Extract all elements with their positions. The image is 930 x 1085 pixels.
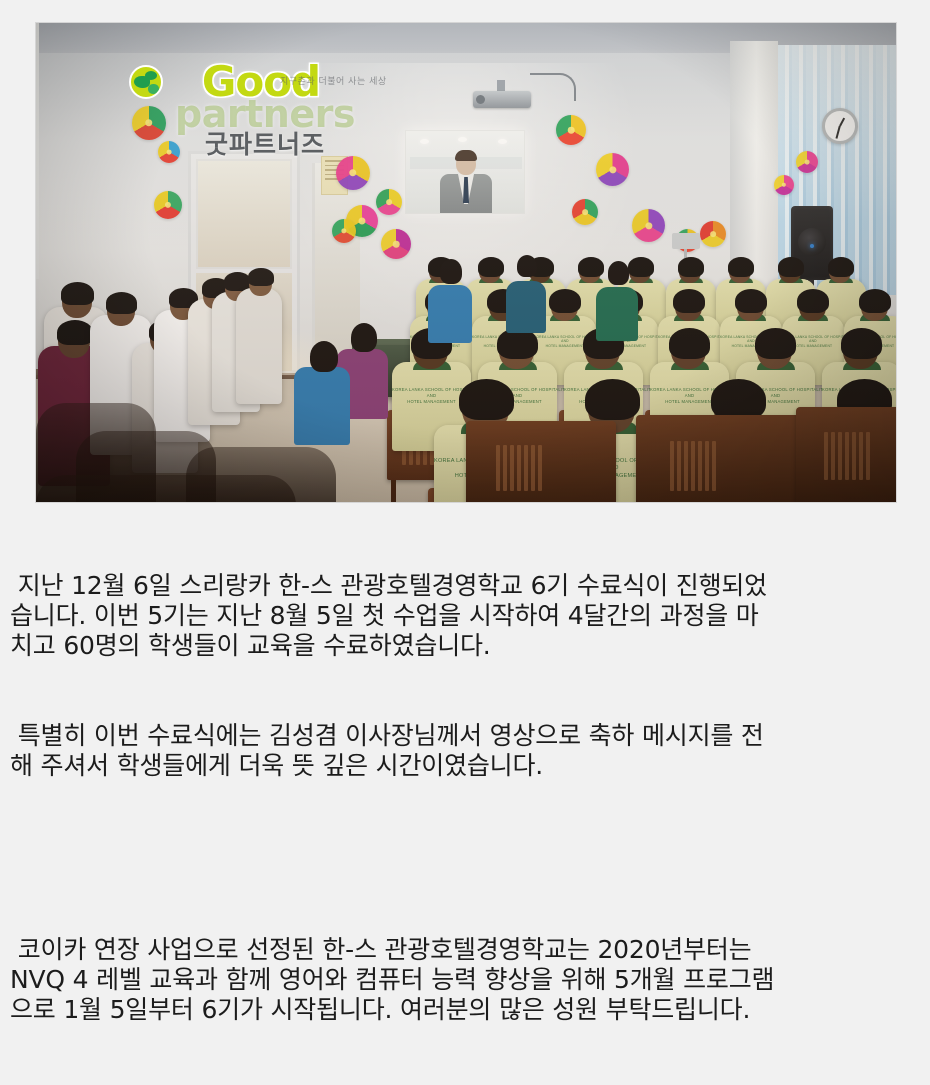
paper-flower bbox=[796, 151, 818, 173]
video-ceiling-light bbox=[458, 137, 467, 142]
paper-flower bbox=[336, 156, 370, 190]
video-speaker-hair bbox=[455, 150, 477, 161]
paper-flower bbox=[700, 221, 726, 247]
paper-flower bbox=[154, 191, 182, 219]
wooden-chair bbox=[466, 421, 616, 502]
audience-member-body bbox=[596, 287, 638, 341]
student-hair bbox=[711, 379, 766, 420]
video-ceiling-light bbox=[420, 139, 429, 144]
caption-paragraph-3: 코이카 연장 사업으로 선정된 한-스 관광호텔경영학교는 2020년부터는 N… bbox=[10, 935, 916, 1025]
student-hair bbox=[859, 289, 891, 313]
student-hair bbox=[678, 257, 704, 276]
paragraph-spacer bbox=[10, 841, 916, 875]
audience-member-hair bbox=[106, 292, 137, 314]
audience-member-head bbox=[351, 323, 377, 352]
student-hair bbox=[797, 289, 829, 313]
student-hair bbox=[459, 379, 514, 420]
paper-flower bbox=[774, 175, 794, 195]
audience-member-hair bbox=[57, 320, 93, 345]
student-hair bbox=[585, 379, 640, 420]
student-hair bbox=[673, 289, 705, 313]
article-caption: 지난 12월 6일 스리랑카 한-스 관광호텔경영학교 6기 수료식이 진행되었… bbox=[0, 511, 930, 1085]
student-hair bbox=[778, 257, 804, 276]
audience-member-head bbox=[310, 341, 338, 372]
student-hair bbox=[549, 289, 581, 313]
window-frame bbox=[36, 23, 39, 279]
audience-member-body bbox=[506, 281, 546, 333]
audience-member-body bbox=[236, 288, 282, 404]
equipment-stand bbox=[672, 233, 700, 249]
paper-flower bbox=[132, 106, 166, 140]
clock-minute-hand bbox=[836, 126, 841, 139]
photo-scene: KOREA LANKA SCHOOL OF HOSPITALITYANDHOTE… bbox=[36, 23, 896, 502]
projector-cable bbox=[530, 73, 576, 101]
door-glass-panel bbox=[196, 159, 292, 269]
wooden-chair bbox=[636, 415, 806, 502]
paper-flower bbox=[556, 115, 586, 145]
chair-leg bbox=[391, 480, 396, 502]
student-hair bbox=[828, 257, 854, 276]
paper-flower bbox=[158, 141, 180, 163]
speaker-cone-icon bbox=[798, 228, 826, 256]
caption-paragraph-2: 특별히 이번 수료식에는 김성겸 이사장님께서 영상으로 축하 메시지를 전 해… bbox=[10, 721, 916, 781]
audience-member-hair bbox=[248, 268, 274, 286]
paper-flower bbox=[332, 219, 356, 243]
projector-lens-icon bbox=[476, 95, 485, 104]
page-root: KOREA LANKA SCHOOL OF HOSPITALITYANDHOTE… bbox=[0, 0, 930, 833]
student-hair bbox=[478, 257, 504, 276]
graduation-ceremony-photo: KOREA LANKA SCHOOL OF HOSPITALITYANDHOTE… bbox=[36, 23, 896, 502]
audience-member-hair bbox=[61, 282, 95, 305]
audience-member-body bbox=[294, 367, 350, 445]
paper-flower bbox=[572, 199, 598, 225]
student-hair bbox=[728, 257, 754, 276]
student-hair bbox=[669, 328, 710, 359]
student-hair bbox=[578, 257, 604, 276]
student-hair bbox=[755, 328, 796, 359]
student-hair bbox=[628, 257, 654, 276]
paper-flower bbox=[596, 153, 629, 186]
wall-clock-icon bbox=[822, 108, 858, 144]
video-ceiling-light bbox=[498, 139, 507, 144]
student-hair bbox=[841, 328, 882, 359]
foreground-shadow bbox=[36, 475, 296, 502]
speaker-power-led bbox=[810, 244, 814, 248]
audience-member-body bbox=[428, 285, 472, 343]
audience-member-head bbox=[608, 261, 629, 285]
audience-member-head bbox=[517, 255, 537, 277]
audience-member-head bbox=[440, 259, 462, 284]
caption-paragraph-1: 지난 12월 6일 스리랑카 한-스 관광호텔경영학교 6기 수료식이 진행되었… bbox=[10, 571, 916, 661]
paper-flower bbox=[632, 209, 665, 242]
wooden-chair bbox=[796, 407, 896, 502]
projection-screen bbox=[405, 130, 525, 214]
paper-flower bbox=[376, 189, 402, 215]
student-hair bbox=[735, 289, 767, 313]
paper-flower bbox=[381, 229, 411, 259]
